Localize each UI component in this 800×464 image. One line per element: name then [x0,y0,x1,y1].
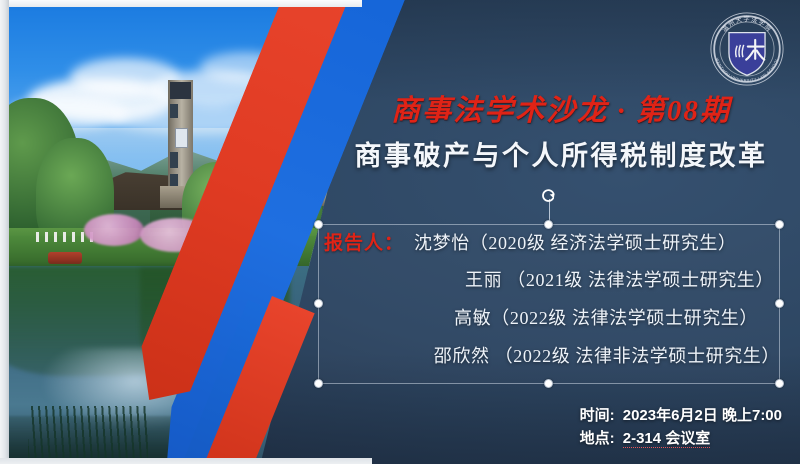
event-info-block: 时间: 2023年6月2日 晚上7:00 地点: 2-314 会议室 [580,404,782,451]
flowering-shrub [84,214,144,246]
place-value: 2-314 会议室 [623,430,711,448]
speaker-row: 高敏（2022级 法律法学硕士研究生） [322,304,780,342]
clock-tower-cap [170,82,191,99]
speaker-row: 报告人： 沈梦怡（2020级 经济法学硕士研究生） [322,228,780,266]
speakers-label: 报告人： [324,228,404,255]
time-value: 2023年6月2日 晚上7:00 [623,407,782,424]
boat [48,252,82,264]
clock-tower-face [175,128,188,148]
series-title: 商事法学术沙龙 · 第08期 [330,96,792,126]
speaker-row: 王丽 （2021级 法律法学硕士研究生） [322,266,780,304]
resize-handle-bottom-center[interactable] [544,379,553,388]
resize-handle-bottom-right[interactable] [775,379,784,388]
time-label: 时间: [580,407,615,424]
resize-handle-bottom-left[interactable] [314,379,323,388]
photo-frame-left [0,0,9,464]
speakers-block[interactable]: 报告人： 沈梦怡（2020级 经济法学硕士研究生） 王丽 （2021级 法律法学… [322,228,780,380]
photo-frame-top [0,0,362,7]
headline-block: 商事法学术沙龙 · 第08期 商事破产与个人所得税制度改革 [330,96,792,173]
photo-frame-bottom [0,458,372,464]
poster-slide: 温州大学法学院 WENZHOU UNIVERSITY LAW SCHOOL 商事… [0,0,800,464]
event-time-row: 时间: 2023年6月2日 晚上7:00 [580,404,782,427]
speaker-name-1: 沈梦怡（2020级 经济法学硕士研究生） [414,229,737,255]
speaker-name-2: 王丽 （2021级 法律法学硕士研究生） [465,266,774,292]
clock-tower-window [170,152,178,168]
university-emblem: 温州大学法学院 WENZHOU UNIVERSITY LAW SCHOOL [706,8,788,90]
speaker-row: 邵欣然 （2022级 法律非法学硕士研究生） [322,342,780,380]
place-label: 地点: [580,430,615,447]
speaker-name-3: 高敏（2022级 法律法学硕士研究生） [454,304,758,330]
event-place-row: 地点: 2-314 会议室 [580,427,782,450]
speaker-name-4: 邵欣然 （2022级 法律非法学硕士研究生） [434,342,780,368]
reeds [28,406,148,464]
clock-tower-window [170,104,178,118]
rotate-icon[interactable] [540,187,558,205]
page-title: 商事破产与个人所得税制度改革 [330,134,792,173]
